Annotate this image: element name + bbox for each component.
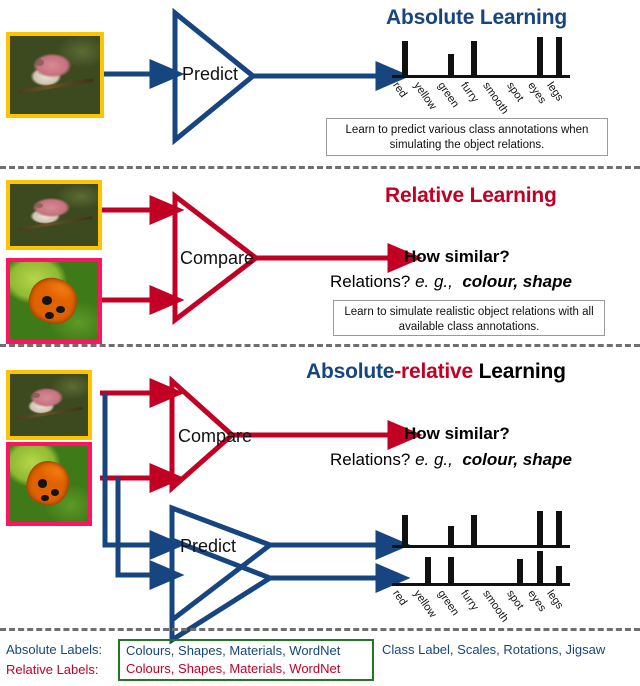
relations-prefix: Relations? <box>330 450 410 469</box>
section-title-relative: Relative Learning <box>385 184 557 208</box>
ladybug-photo <box>10 262 98 340</box>
how-similar-text-row2: How similar? <box>404 247 510 267</box>
chart-tick-labels: red yellow green furry smooth spot eyes … <box>392 588 570 634</box>
how-similar-text-row3: How similar? <box>404 424 510 444</box>
section-title-absolute: Absolute Learning <box>386 6 567 30</box>
relations-items: colour, shape <box>462 450 572 469</box>
separator-2 <box>0 344 640 347</box>
bird-photo <box>10 374 88 436</box>
bird-image-relative[interactable] <box>6 180 102 250</box>
chart-absolute: red yellow green furry smooth spot eyes … <box>392 32 570 78</box>
bar-red <box>402 515 408 545</box>
caption-absolute: Learn to predict various class annotatio… <box>326 118 608 156</box>
tick-label: eyes <box>525 80 548 106</box>
tick-label: yellow <box>411 80 438 112</box>
bird-photo <box>10 184 98 246</box>
bar-eyes <box>537 37 543 75</box>
tick-label: furry <box>458 80 480 105</box>
bar-yellow <box>425 557 431 583</box>
bar-furry <box>471 515 477 545</box>
title-part-absolute: Absolute <box>306 360 394 383</box>
relations-items: colour, shape <box>462 272 572 291</box>
chart-absrel-lower: red yellow green furry smooth spot eyes … <box>392 548 570 586</box>
title-part-relative: -relative <box>394 360 473 383</box>
chart-axis <box>392 583 570 586</box>
tick-label: legs <box>544 588 565 611</box>
labels-legend: Absolute Labels: Colours, Shapes, Materi… <box>6 640 605 680</box>
relations-eg: e. g., <box>415 450 453 469</box>
section-title-absolute-relative: Absolute-relative Learning <box>306 360 566 384</box>
bar-green <box>448 54 454 75</box>
tick-label: legs <box>544 80 565 103</box>
tick-label: green <box>435 80 461 110</box>
legend-label-relative: Relative Labels: <box>6 660 118 680</box>
bar-green <box>448 557 454 583</box>
chart-axis <box>392 75 570 78</box>
tick-label: spot <box>504 80 526 104</box>
bar-legs <box>556 566 562 583</box>
legend-extra-absolute: Class Label, Scales, Rotations, Jigsaw <box>374 640 605 660</box>
bird-image-bottom[interactable] <box>6 370 92 440</box>
legend-row-absolute: Absolute Labels: Colours, Shapes, Materi… <box>6 640 605 660</box>
ladybug-image-relative[interactable] <box>6 258 102 344</box>
bar-eyes <box>537 551 543 583</box>
predict-node-label-row1: Predict <box>182 64 238 85</box>
chart-absrel-upper <box>392 508 570 548</box>
relations-eg: e. g., <box>415 272 453 291</box>
bar-eyes <box>537 511 543 545</box>
row3-connectors <box>100 381 390 640</box>
bar-red <box>402 41 408 75</box>
ladybug-image-bottom[interactable] <box>6 442 92 526</box>
legend-row-relative: Relative Labels: Colours, Shapes, Materi… <box>6 660 605 680</box>
separator-1 <box>0 166 640 169</box>
bar-green <box>448 526 454 545</box>
bar-legs <box>556 511 562 545</box>
bar-legs <box>556 37 562 75</box>
relations-prefix: Relations? <box>330 272 410 291</box>
ladybug-photo <box>10 446 88 522</box>
tick-label: green <box>435 588 461 618</box>
tick-label: yellow <box>411 588 438 620</box>
compare-node-label-row2: Compare <box>180 248 254 269</box>
predict-node-label-row3: Predict <box>180 536 236 557</box>
tick-label: red <box>390 80 409 100</box>
tick-label: eyes <box>525 588 548 614</box>
legend-boxed-absolute: Colours, Shapes, Materials, WordNet <box>118 639 374 661</box>
tick-label: red <box>390 588 409 608</box>
relations-text-row3: Relations? e. g., colour, shape <box>330 450 572 470</box>
relations-text-row2: Relations? e. g., colour, shape <box>330 272 572 292</box>
caption-relative: Learn to simulate realistic object relat… <box>333 300 605 336</box>
legend-label-absolute: Absolute Labels: <box>6 640 118 660</box>
bar-furry <box>471 41 477 75</box>
bird-image-top[interactable] <box>6 32 104 118</box>
legend-boxed-relative: Colours, Shapes, Materials, WordNet <box>118 659 374 681</box>
compare-node-label-row3: Compare <box>178 426 252 447</box>
tick-label: furry <box>458 588 480 613</box>
tick-label: spot <box>504 588 526 612</box>
bar-spot <box>517 559 523 583</box>
bird-photo <box>10 36 100 114</box>
title-part-learning: Learning <box>473 360 566 383</box>
